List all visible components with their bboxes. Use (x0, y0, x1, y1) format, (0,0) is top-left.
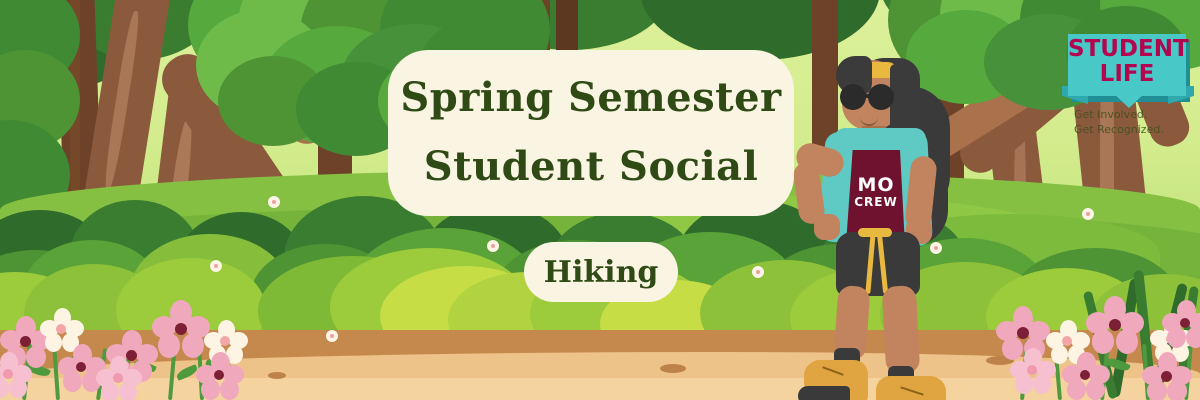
logo-text-block: STUDENT LIFE (1068, 38, 1186, 86)
flower-icon (1010, 348, 1056, 394)
headline-line-2: Student Social (424, 145, 759, 190)
student-life-logo: STUDENT LIFE Get Involved. Get Recognize… (1068, 34, 1194, 142)
logo-tagline-line-1: Get Involved. (1074, 108, 1198, 123)
logo-line-2: LIFE (1068, 63, 1186, 86)
event-banner: MO CREW (0, 0, 1200, 400)
flower-icon (1086, 296, 1144, 354)
flower-icon (1162, 300, 1200, 348)
activity-badge: Hiking (524, 242, 678, 302)
flower-icon (1062, 352, 1110, 400)
activity-badge-label: Hiking (544, 255, 659, 290)
logo-tagline: Get Involved. Get Recognized. (1074, 108, 1198, 138)
headline-line-1: Spring Semester (400, 76, 781, 121)
flower-icon (1142, 352, 1192, 400)
logo-tagline-line-2: Get Recognized. (1074, 123, 1198, 138)
headline-panel: Spring Semester Student Social (388, 50, 794, 216)
logo-line-1: STUDENT (1068, 38, 1186, 61)
